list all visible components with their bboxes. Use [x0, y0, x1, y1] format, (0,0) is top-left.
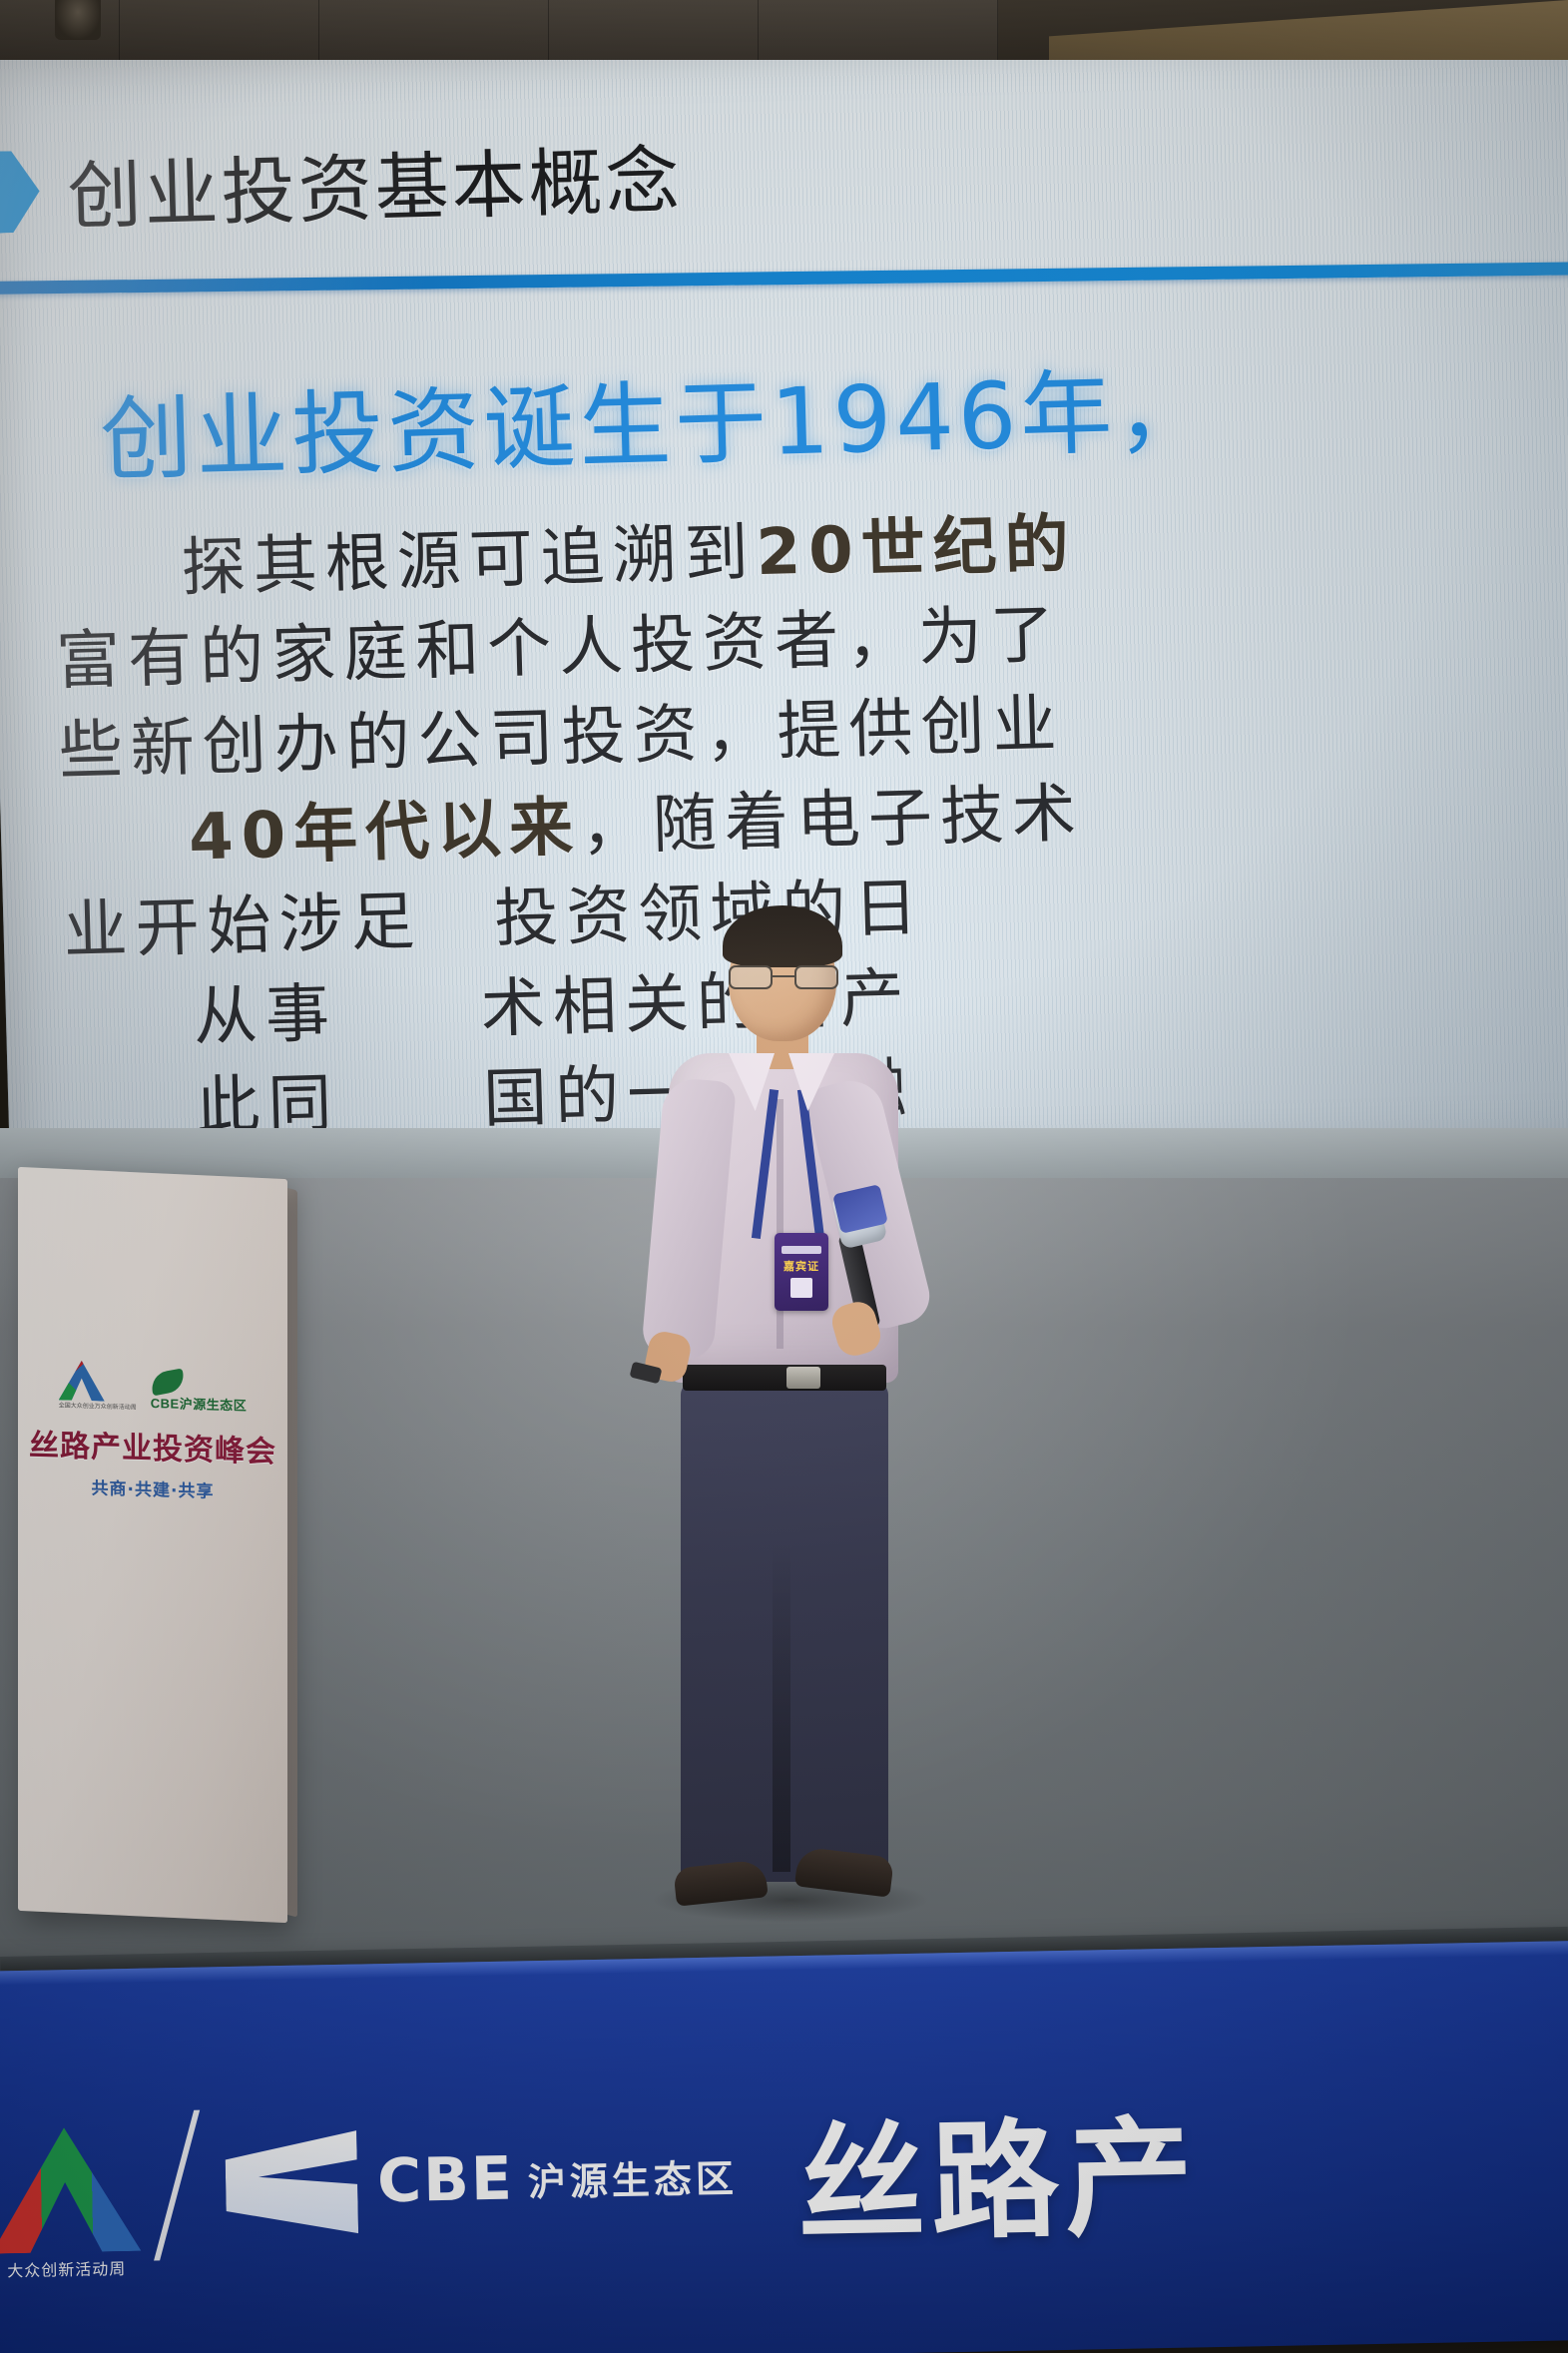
- speaker-leg-gap: [773, 1542, 790, 1872]
- podium-summit-title: 丝路产业投资峰会: [18, 1420, 287, 1471]
- banner-cbe-logo: CBE 沪源生态区: [213, 2118, 739, 2240]
- speaker-shirt-placket: [777, 1099, 784, 1349]
- banner-cbe-text: CBE: [376, 2144, 514, 2217]
- speaker-badge: 嘉宾证: [775, 1233, 828, 1311]
- chevron-right-icon: [0, 150, 41, 234]
- slide-title-row: 创业投资基本概念: [0, 108, 1103, 248]
- slide-title: 创业投资基本概念: [66, 121, 684, 245]
- cbe-logo-icon: [151, 1371, 247, 1396]
- speaker-belt: [683, 1365, 886, 1391]
- ceiling-vent-icon: [55, 0, 101, 40]
- slide-body-run: 业开始涉足: [63, 884, 424, 968]
- podium-branding: 全国大众创业万众创新活动周 CBE沪源生态区 丝路产业投资峰会 共商·共建·共享: [18, 1169, 287, 1504]
- podium-summit-slogan: 共商·共建·共享: [18, 1471, 287, 1504]
- badge-header-strip: [782, 1246, 821, 1254]
- podium-logo-marks: 全国大众创业万众创新活动周 CBE沪源生态区: [18, 1359, 287, 1416]
- slide-body-run: [422, 882, 496, 958]
- innovation-week-logo-label: 全国大众创业万众创新活动周: [59, 1400, 137, 1411]
- speaker: 嘉宾证: [611, 903, 950, 1992]
- badge-qr-block: [790, 1278, 812, 1298]
- slide-body-emphasis: 20世纪的: [756, 507, 1078, 590]
- slide-body-emphasis: 40年代以来: [188, 791, 582, 876]
- banner-cbe-subtext: 沪源生态区: [527, 2147, 738, 2206]
- leaf-icon: [149, 1369, 187, 1397]
- innovation-week-logo-icon: [59, 1360, 105, 1401]
- banner-main-text: 丝路产: [795, 2073, 1200, 2266]
- slide-body-run: 从事: [193, 977, 338, 1055]
- podium: 全国大众创业万众创新活动周 CBE沪源生态区 丝路产业投资峰会 共商·共建·共享: [18, 1167, 287, 1923]
- slide-body-run: ，随着电子技术: [580, 777, 1085, 865]
- banner-innovation-week-logo-icon: 大众创新活动周: [0, 2121, 141, 2254]
- slide-body-run: 探其根源可追溯到: [181, 516, 758, 606]
- banner-innovation-week-label: 大众创新活动周: [0, 2255, 142, 2282]
- stage-front-banner: 大众创新活动周 CBE 沪源生态区 丝路产: [0, 1941, 1568, 2353]
- slide-headline: 创业投资诞生于1946年，: [98, 324, 1568, 499]
- slide-divider-rule: [0, 262, 1568, 294]
- slide-body-run: [336, 973, 482, 1051]
- conference-stage-photo: 创业投资基本概念 创业投资诞生于1946年， 探其根源可追溯到20世纪的富有的家…: [0, 0, 1568, 2353]
- glasses-icon: [729, 965, 838, 989]
- speaker-hair: [723, 905, 842, 967]
- cbe-logo-label: CBE沪源生态区: [151, 1393, 247, 1415]
- cbe-wave-icon: [213, 2125, 364, 2240]
- badge-label: 嘉宾证: [784, 1258, 819, 1274]
- banner-divider-slash: [154, 2110, 200, 2261]
- speaker-belt-buckle: [786, 1367, 820, 1389]
